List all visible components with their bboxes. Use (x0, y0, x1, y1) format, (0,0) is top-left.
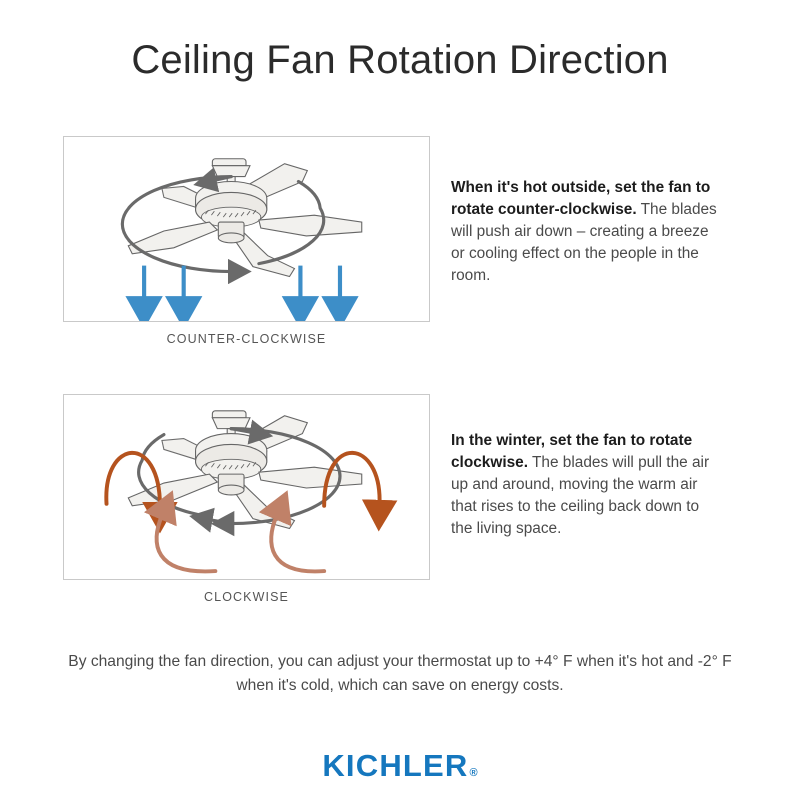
ceiling-fan-counter-clockwise-diagram (63, 136, 430, 322)
section-counter-clockwise: COUNTER-CLOCKWISE When it's hot outside,… (0, 136, 800, 361)
registered-trademark-icon: ® (470, 767, 478, 779)
brand-wordmark: KICHLER (322, 748, 468, 784)
diagram-caption-counter-clockwise: COUNTER-CLOCKWISE (63, 332, 430, 346)
page-title: Ceiling Fan Rotation Direction (0, 38, 800, 82)
diagram-caption-clockwise: CLOCKWISE (63, 590, 430, 604)
fan-illustration-winter (64, 395, 429, 579)
infographic-root: Ceiling Fan Rotation Direction (0, 0, 800, 800)
footer-note: By changing the fan direction, you can a… (60, 650, 740, 698)
fan-bottom-cap-summer (218, 222, 244, 243)
description-counter-clockwise: When it's hot outside, set the fan to ro… (451, 177, 723, 286)
ceiling-fan-clockwise-diagram (63, 394, 430, 580)
warm-air-rise-left (157, 516, 216, 572)
fan-bottom-cap-winter (218, 474, 244, 495)
brand-logo: KICHLER® (0, 748, 800, 784)
fan-illustration-summer (64, 137, 429, 321)
description-clockwise: In the winter, set the fan to rotate clo… (451, 430, 723, 539)
section-clockwise: CLOCKWISE In the winter, set the fan to … (0, 394, 800, 619)
